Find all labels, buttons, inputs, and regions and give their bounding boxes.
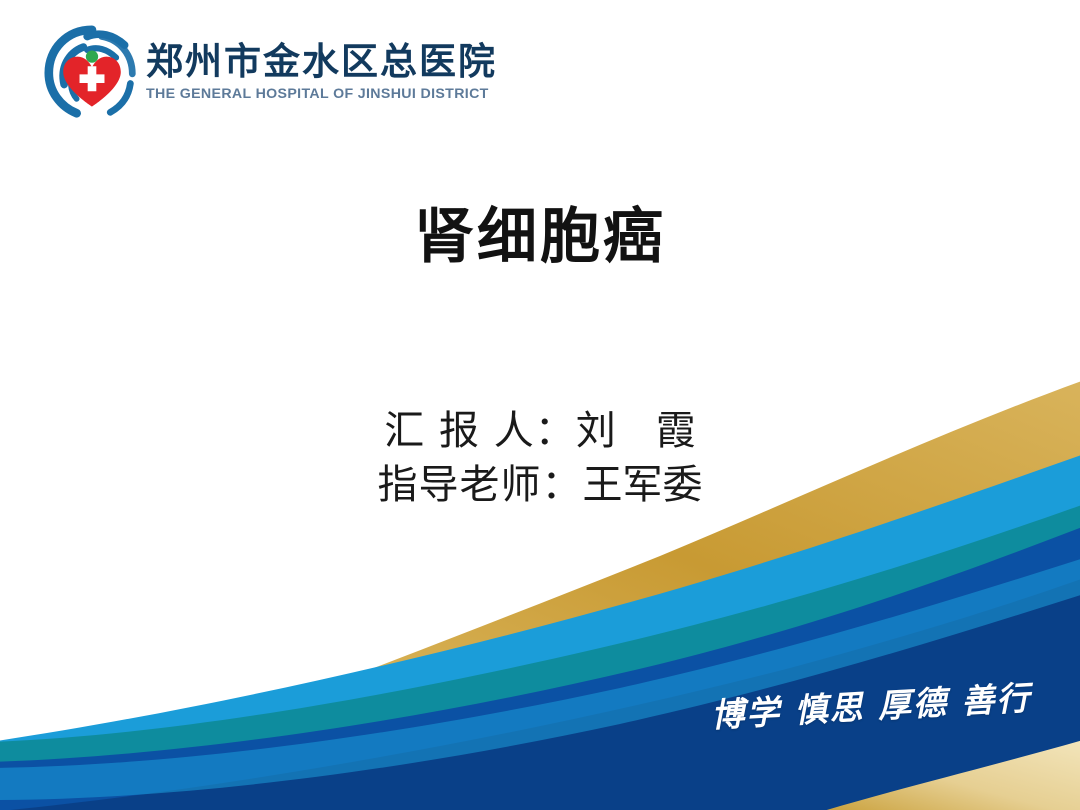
advisor-name: 王军委 [583, 462, 703, 508]
advisor-line: 指导老师：王军委 [0, 458, 1080, 512]
hospital-name-chinese: 郑州市金水区总医院 [146, 42, 497, 82]
hospital-name-block: 郑州市金水区总医院 THE GENERAL HOSPITAL OF JINSHU… [146, 42, 497, 103]
page-title: 肾细胞癌 [0, 188, 1080, 275]
presenter-info: 汇 报 人：刘 霞 指导老师：王军委 [0, 404, 1080, 512]
hospital-logo: 郑州市金水区总医院 THE GENERAL HOSPITAL OF JINSHU… [44, 24, 497, 120]
reporter-name: 刘 霞 [576, 408, 696, 454]
advisor-label: 指导老师： [378, 462, 583, 508]
green-dot-icon [86, 50, 98, 62]
presentation-slide: 郑州市金水区总医院 THE GENERAL HOSPITAL OF JINSHU… [0, 0, 1080, 810]
hospital-name-english: THE GENERAL HOSPITAL OF JINSHUI DISTRICT [146, 86, 497, 102]
hospital-emblem-icon [44, 24, 140, 120]
reporter-label: 汇 报 人： [384, 408, 575, 454]
reporter-line: 汇 报 人：刘 霞 [0, 404, 1080, 458]
